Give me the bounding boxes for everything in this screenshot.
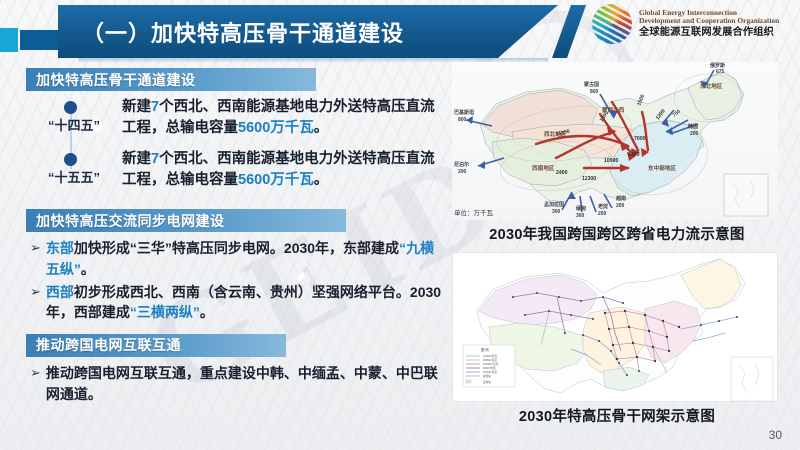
svg-text:500kV交流: 500kV交流 <box>483 366 496 370</box>
bullet-text: 推动跨国电网互联互通，重点建设中韩、中缅孟、中蒙、中巴联网通道。 <box>46 363 446 404</box>
uhv-backbone-map-panel: 图 例 1000kV交流 ±800kV直流 ±1100kV <box>452 252 782 426</box>
content-left-column: 加快特高压骨干通道建设 “十四五” 新建7个西北、西南能源基地电力外送特高压直流… <box>26 68 446 406</box>
bullet-part-grid-pattern: “三横两纵” <box>130 304 200 320</box>
map-unit-label: 单位：万千瓦 <box>454 207 493 217</box>
slide-header: （一）加快特高压骨干通道建设 Global Energy Interconnec… <box>0 0 800 62</box>
logo-english-line-2: Development and Cooperation Organization <box>639 17 779 26</box>
svg-text:变电站: 变电站 <box>483 380 491 384</box>
svg-text:200: 200 <box>616 203 625 209</box>
bullet-part-west: 西部 <box>46 284 74 300</box>
bullet-item-west: ➢ 西部初步形成西北、西南（含云南、贵州）坚强网络平台。2030年，西部建成“三… <box>30 282 446 323</box>
svg-text:±1100kV直流: ±1100kV直流 <box>483 362 499 366</box>
timeline-body-text: 新建7个西北、西南能源基地电力外送特高压直流工程，总输电容量5600万千瓦。 <box>122 97 446 139</box>
page-title: （一）加快特高压骨干通道建设 <box>58 16 404 48</box>
svg-text:俄罗斯: 俄罗斯 <box>709 62 725 69</box>
power-flow-map-caption: 2030年我国跨国跨区跨省电力流示意图 <box>452 223 782 244</box>
timeline-item: “十四五” 新建7个西北、西南能源基地电力外送特高压直流工程，总输电容量5600… <box>26 97 446 139</box>
svg-text:蒙西山西: 蒙西山西 <box>602 106 625 114</box>
section-heading-cross-border: 推动跨国电网互联互通 <box>26 334 286 357</box>
bullet-part-end: 。 <box>81 261 95 277</box>
svg-text:2400: 2400 <box>556 170 568 176</box>
bullet-part-body: 初步形成西北、西南（含云南、贵州）坚强网络平台。2030年，西部建成 <box>46 284 441 321</box>
bullet-item-east: ➢ 东部加快形成“三华”特高压同步电网。2030年，东部建成“九横五纵”。 <box>30 238 446 279</box>
svg-text:200: 200 <box>598 211 607 217</box>
spacer <box>26 201 446 209</box>
title-banner: （一）加快特高压骨干通道建设 <box>58 5 558 58</box>
text-prefix: 新建 <box>122 151 151 167</box>
bullet-text: 西部初步形成西北、西南（含云南、贵州）坚强网络平台。2030年，西部建成“三横两… <box>46 282 446 323</box>
svg-text:越南: 越南 <box>615 195 626 202</box>
svg-text:±500kV直流: ±500kV直流 <box>483 370 497 374</box>
page-number: 30 <box>769 428 782 442</box>
bullet-part-body: 加快形成“三华”特高压同步电网。2030年，东部建成 <box>74 240 399 256</box>
svg-text:300: 300 <box>552 209 561 215</box>
bullet-part-east: 东部 <box>46 240 74 256</box>
logo-chinese-name: 全球能源互联网发展合作组织 <box>639 27 779 39</box>
arrow-bullet-icon: ➢ <box>30 363 41 404</box>
slide-canvas: GEIDCO （一）加快特高压骨干通道建设 Global Energy Inte… <box>0 0 800 450</box>
svg-text:200: 200 <box>690 131 699 137</box>
text-suffix: 。 <box>314 120 329 136</box>
uhv-backbone-map-caption: 2030年特高压骨干网架示意图 <box>452 405 782 426</box>
svg-text:尼泊尔: 尼泊尔 <box>454 161 469 168</box>
svg-text:西南地区: 西南地区 <box>532 164 555 172</box>
svg-text:±800kV直流: ±800kV直流 <box>483 358 497 362</box>
svg-text:巴基斯坦: 巴基斯坦 <box>454 109 474 116</box>
svg-text:缅甸: 缅甸 <box>576 205 586 212</box>
timeline-group: “十四五” 新建7个西北、西南能源基地电力外送特高压直流工程，总输电容量5600… <box>26 97 446 191</box>
svg-text:11300: 11300 <box>582 176 596 182</box>
text-count-highlight: 7 <box>151 99 159 115</box>
svg-text:675: 675 <box>716 69 725 75</box>
svg-text:东北地区: 东北地区 <box>700 82 723 90</box>
svg-text:韩国: 韩国 <box>688 123 698 130</box>
svg-text:1000kV交流: 1000kV交流 <box>483 354 497 358</box>
svg-text:6400: 6400 <box>628 152 640 158</box>
svg-text:800: 800 <box>590 89 599 95</box>
bullet-item-cross-border: ➢ 推动跨国电网互联互通，重点建设中韩、中缅孟、中蒙、中巴联网通道。 <box>30 363 446 404</box>
svg-text:10900: 10900 <box>604 158 619 164</box>
arrow-bullet-icon: ➢ <box>30 282 41 323</box>
svg-text:孟加拉国: 孟加拉国 <box>544 201 564 208</box>
text-capacity-highlight: 5600万千瓦 <box>238 172 314 188</box>
content-right-column: 13300 10900 11300 7000 6400 2400 1500 13… <box>452 62 782 426</box>
section-heading-backbone: 加快特高压骨干通道建设 <box>26 68 316 91</box>
uhv-backbone-map-image: 图 例 1000kV交流 ±800kV直流 ±1100kV <box>452 252 778 402</box>
title-banner-slash-decoration <box>552 5 586 58</box>
timeline-marker: “十五五” <box>26 149 122 191</box>
timeline-marker: “十四五” <box>26 97 122 139</box>
svg-text:7000: 7000 <box>634 136 646 142</box>
timeline-dot-icon <box>64 153 77 166</box>
section-heading-label: 加快特高压交流同步电网建设 <box>36 211 225 231</box>
header-accent-chip-blue <box>18 28 60 52</box>
section-heading-label: 加快特高压骨干通道建设 <box>36 70 196 90</box>
text-prefix: 新建 <box>122 99 151 115</box>
bullet-text: 东部加快形成“三华”特高压同步电网。2030年，东部建成“九横五纵”。 <box>46 238 446 279</box>
arrow-bullet-icon: ➢ <box>30 238 41 279</box>
bullet-part-end: 。 <box>200 304 214 320</box>
timeline-body-text: 新建7个西北、西南能源基地电力外送特高压直流工程，总输电容量5600万千瓦。 <box>122 149 446 191</box>
svg-text:老挝: 老挝 <box>597 203 608 210</box>
timeline-period-label: “十四五” <box>26 115 122 134</box>
timeline-dot-icon <box>64 101 77 114</box>
section-heading-ac-sync-grid: 加快特高压交流同步电网建设 <box>26 209 346 232</box>
svg-text:西北地区: 西北地区 <box>544 130 567 138</box>
text-capacity-highlight: 5600万千瓦 <box>238 120 314 136</box>
svg-text:蒙古国: 蒙古国 <box>584 81 599 88</box>
svg-text:800: 800 <box>458 117 467 123</box>
svg-text:图 例: 图 例 <box>481 347 489 352</box>
globe-icon <box>592 4 632 44</box>
logo-text-group: Global Energy Interconnection Developmen… <box>639 9 779 40</box>
text-suffix: 。 <box>314 172 329 188</box>
text-count-highlight: 7 <box>151 151 159 167</box>
power-flow-map-image: 13300 10900 11300 7000 6400 2400 1500 13… <box>452 62 778 220</box>
svg-text:东中部地区: 东中部地区 <box>648 164 676 172</box>
section-heading-label: 推动跨国电网互联互通 <box>36 335 181 355</box>
timeline-item: “十五五” 新建7个西北、西南能源基地电力外送特高压直流工程，总输电容量5600… <box>26 149 446 191</box>
svg-text:300: 300 <box>576 213 585 219</box>
organization-logo: Global Energy Interconnection Developmen… <box>592 4 779 44</box>
svg-text:换流站: 换流站 <box>483 374 491 378</box>
power-flow-map-panel: 13300 10900 11300 7000 6400 2400 1500 13… <box>452 62 782 244</box>
spacer <box>26 325 446 334</box>
timeline-period-label: “十五五” <box>26 167 122 186</box>
svg-text:200: 200 <box>458 169 467 175</box>
